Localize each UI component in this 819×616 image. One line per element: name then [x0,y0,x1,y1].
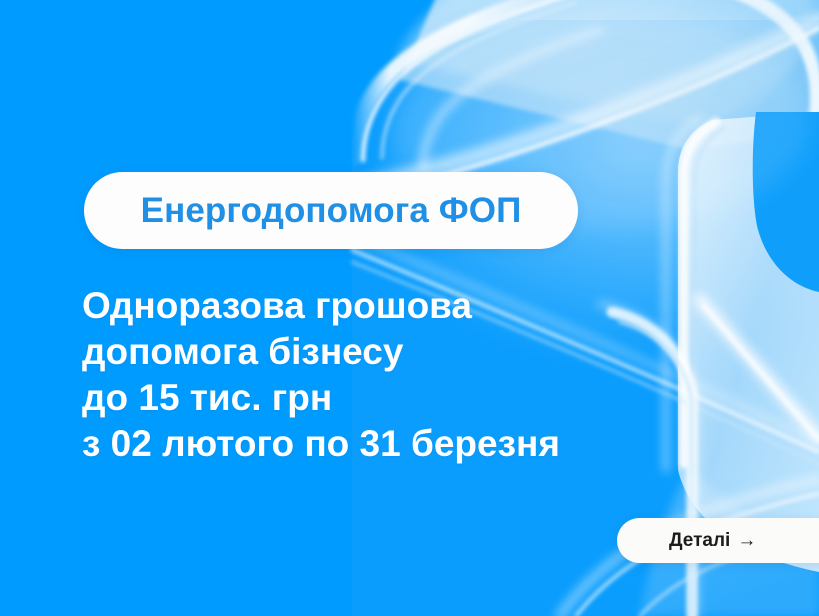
headline-block: Одноразова грошова допомога бізнесу до 1… [82,283,722,467]
headline-line-3: до 15 тис. грн [82,375,722,421]
headline-line-1: Одноразова грошова [82,283,722,329]
arrow-right-icon: → [737,531,756,550]
promo-banner: Енергодопомога ФОП Одноразова грошова до… [0,0,819,616]
headline-line-2: допомога бізнесу [82,329,722,375]
headline-line-4: з 02 лютого по 31 березня [82,421,722,467]
details-button[interactable]: Деталі → [617,518,819,563]
details-button-label: Деталі [669,530,730,552]
program-badge: Енергодопомога ФОП [84,172,578,249]
program-badge-label: Енергодопомога ФОП [141,191,522,231]
